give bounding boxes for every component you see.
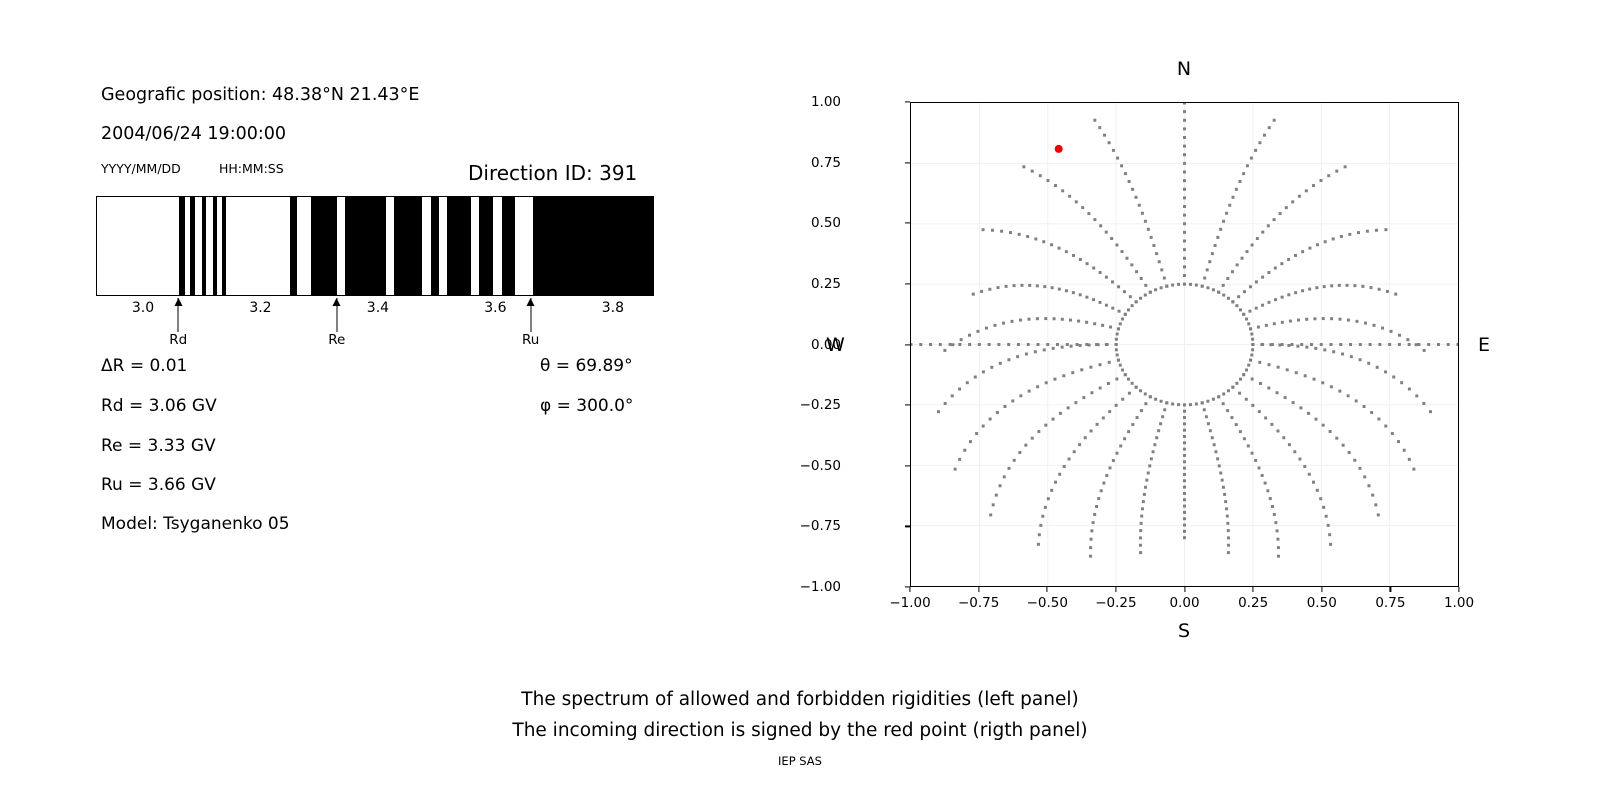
data-point bbox=[1165, 285, 1168, 288]
data-point bbox=[1069, 319, 1072, 322]
data-point bbox=[1183, 119, 1186, 122]
data-point bbox=[1261, 231, 1264, 234]
data-point bbox=[1148, 464, 1151, 467]
data-point bbox=[1019, 394, 1022, 397]
data-point bbox=[1124, 313, 1127, 316]
data-point bbox=[1206, 400, 1209, 403]
data-point bbox=[1131, 423, 1134, 426]
data-point bbox=[1288, 443, 1291, 446]
data-point bbox=[1222, 392, 1225, 395]
data-point bbox=[1227, 529, 1230, 532]
data-point bbox=[1183, 188, 1186, 191]
data-point bbox=[1089, 555, 1092, 558]
data-point bbox=[999, 484, 1002, 487]
date-format-hint: YYYY/MM/DD bbox=[101, 161, 181, 176]
data-point bbox=[1394, 293, 1397, 296]
data-point bbox=[1330, 343, 1333, 346]
data-point bbox=[1251, 404, 1254, 407]
data-point bbox=[1347, 394, 1350, 397]
data-point bbox=[1183, 162, 1186, 165]
data-point bbox=[1329, 543, 1332, 546]
polar-scatter-plot bbox=[910, 102, 1459, 587]
data-point bbox=[1227, 389, 1230, 392]
data-point bbox=[1189, 403, 1192, 406]
data-point bbox=[1140, 515, 1143, 518]
data-point bbox=[1392, 376, 1395, 379]
data-point bbox=[1216, 457, 1219, 460]
scatter-canvas bbox=[911, 103, 1458, 586]
data-point bbox=[1046, 343, 1049, 346]
data-point bbox=[1058, 473, 1061, 476]
data-point bbox=[1212, 398, 1215, 401]
data-point bbox=[1330, 385, 1333, 388]
data-point bbox=[1249, 327, 1252, 330]
data-point bbox=[1264, 482, 1267, 485]
data-point bbox=[1294, 254, 1297, 257]
data-point bbox=[1036, 284, 1039, 287]
data-point bbox=[1264, 416, 1267, 419]
data-point bbox=[1246, 250, 1249, 253]
data-point bbox=[1214, 244, 1217, 247]
data-point bbox=[1092, 267, 1095, 270]
data-point bbox=[1115, 348, 1118, 351]
data-point bbox=[951, 343, 954, 346]
data-point bbox=[1223, 493, 1226, 496]
data-point bbox=[1310, 343, 1313, 346]
spectrum-tick-label: 3.6 bbox=[484, 300, 506, 316]
data-point bbox=[1183, 196, 1186, 199]
data-point bbox=[1203, 408, 1206, 411]
data-point bbox=[1381, 327, 1384, 330]
data-point bbox=[1350, 355, 1353, 358]
data-point bbox=[1016, 355, 1019, 358]
caption-line-1: The spectrum of allowed and forbidden ri… bbox=[0, 684, 1600, 715]
data-point bbox=[1254, 149, 1257, 152]
data-point bbox=[1093, 119, 1096, 122]
data-point bbox=[997, 286, 1000, 289]
data-point bbox=[969, 440, 972, 443]
stat-phi: φ = 300.0° bbox=[540, 396, 633, 416]
data-point bbox=[1377, 513, 1380, 516]
data-point bbox=[1312, 184, 1315, 187]
incoming-direction-point bbox=[1055, 145, 1063, 153]
data-point bbox=[1128, 180, 1131, 183]
data-point bbox=[1417, 343, 1420, 346]
data-point bbox=[1183, 441, 1186, 444]
data-point bbox=[1092, 298, 1095, 301]
data-point bbox=[1183, 435, 1186, 438]
data-point bbox=[1267, 224, 1270, 227]
data-point bbox=[1388, 343, 1391, 346]
data-point bbox=[1101, 324, 1104, 327]
y-axis-tick-label: 0.25 bbox=[811, 276, 841, 292]
data-point bbox=[1183, 536, 1186, 539]
y-axis-tick-label: −0.50 bbox=[800, 458, 841, 474]
data-point bbox=[1211, 252, 1214, 255]
data-point bbox=[1139, 544, 1142, 547]
x-axis-tick-mark bbox=[1184, 587, 1185, 592]
spectrum-panel: Geografic position: 48.38°N 21.43°E 2004… bbox=[0, 0, 760, 620]
data-point bbox=[1072, 291, 1075, 294]
data-point bbox=[1054, 481, 1057, 484]
data-point bbox=[1183, 240, 1186, 243]
data-point bbox=[1303, 465, 1306, 468]
data-point bbox=[1044, 317, 1047, 320]
data-point bbox=[1065, 250, 1068, 253]
data-point bbox=[1322, 317, 1325, 320]
data-point bbox=[1009, 231, 1012, 234]
data-point bbox=[1028, 390, 1031, 393]
data-point bbox=[1150, 236, 1153, 239]
data-point bbox=[1117, 285, 1120, 288]
data-point bbox=[1099, 271, 1102, 274]
forbidden-band bbox=[190, 197, 194, 295]
data-point bbox=[1189, 283, 1192, 286]
data-point bbox=[1013, 284, 1016, 287]
data-point bbox=[1183, 103, 1186, 104]
data-point bbox=[1022, 165, 1025, 168]
data-point bbox=[991, 229, 994, 232]
data-point bbox=[1457, 343, 1458, 346]
data-point bbox=[1221, 479, 1224, 482]
data-point bbox=[1142, 500, 1145, 503]
data-point bbox=[1219, 472, 1222, 475]
data-point bbox=[1145, 479, 1148, 482]
data-point bbox=[1213, 443, 1216, 446]
data-point bbox=[1103, 134, 1106, 137]
data-point bbox=[1251, 338, 1254, 341]
data-point bbox=[919, 343, 922, 346]
data-point bbox=[1226, 277, 1229, 280]
data-point bbox=[1038, 533, 1041, 536]
data-point bbox=[1357, 231, 1360, 234]
data-point bbox=[1323, 348, 1326, 351]
data-point bbox=[966, 381, 969, 384]
data-point bbox=[1281, 296, 1284, 299]
data-point bbox=[1232, 196, 1235, 199]
data-point bbox=[1437, 343, 1440, 346]
data-point bbox=[1051, 286, 1054, 289]
data-point bbox=[1447, 343, 1450, 346]
data-point bbox=[1363, 475, 1366, 478]
data-point bbox=[1003, 405, 1006, 408]
data-point bbox=[951, 394, 954, 397]
geographic-position-label: Geografic position: 48.38°N 21.43°E bbox=[101, 85, 419, 105]
data-point bbox=[1222, 294, 1225, 297]
data-point bbox=[1226, 409, 1229, 412]
data-point bbox=[1063, 465, 1066, 468]
data-point bbox=[1235, 304, 1238, 307]
data-point bbox=[1218, 464, 1221, 467]
data-point bbox=[1183, 403, 1186, 406]
data-point bbox=[1261, 276, 1264, 279]
data-point bbox=[1314, 418, 1317, 421]
data-point bbox=[1105, 343, 1108, 346]
data-point bbox=[1384, 228, 1387, 231]
data-point bbox=[1322, 506, 1325, 509]
forbidden-band bbox=[222, 197, 226, 295]
data-point bbox=[1348, 451, 1351, 454]
data-point bbox=[1025, 353, 1028, 356]
data-point bbox=[1245, 317, 1248, 320]
data-point bbox=[1249, 285, 1252, 288]
forbidden-band bbox=[533, 197, 654, 295]
data-point bbox=[1217, 395, 1220, 398]
data-point bbox=[1277, 555, 1280, 558]
data-point bbox=[1400, 381, 1403, 384]
data-point bbox=[1266, 489, 1269, 492]
data-point bbox=[1115, 378, 1118, 381]
data-point bbox=[1258, 410, 1261, 413]
data-point bbox=[1227, 297, 1230, 300]
arrow-up-icon bbox=[178, 298, 179, 332]
data-point bbox=[1050, 243, 1053, 246]
y-axis-tick-label: 0.75 bbox=[811, 155, 841, 171]
data-point bbox=[1258, 141, 1261, 144]
data-point bbox=[1247, 444, 1250, 447]
data-point bbox=[1183, 422, 1186, 425]
data-point bbox=[1144, 220, 1147, 223]
data-point bbox=[1007, 343, 1010, 346]
data-point bbox=[1408, 343, 1411, 346]
data-point bbox=[1276, 391, 1279, 394]
direction-id-label: Direction ID: 391 bbox=[468, 161, 637, 185]
data-point bbox=[996, 411, 999, 414]
data-point bbox=[1375, 229, 1378, 232]
data-point bbox=[1154, 398, 1157, 401]
spectrum-marker-label: Ru bbox=[522, 332, 539, 348]
data-point bbox=[1017, 343, 1020, 346]
data-point bbox=[997, 343, 1000, 346]
data-point bbox=[1117, 359, 1120, 362]
forbidden-band bbox=[179, 197, 184, 295]
data-point bbox=[1251, 343, 1254, 346]
data-point bbox=[1105, 304, 1108, 307]
data-point bbox=[1222, 220, 1225, 223]
data-point bbox=[1053, 317, 1056, 320]
data-point bbox=[1367, 484, 1370, 487]
data-point bbox=[1079, 344, 1082, 347]
data-point bbox=[1257, 326, 1260, 329]
data-point bbox=[1141, 212, 1144, 215]
data-point bbox=[1183, 205, 1186, 208]
data-point bbox=[1355, 320, 1358, 323]
spectrum-marker-label: Rd bbox=[169, 332, 187, 348]
forbidden-band bbox=[431, 197, 440, 295]
data-point bbox=[1247, 322, 1250, 325]
y-axis-tick-label: −1.00 bbox=[800, 579, 841, 595]
data-point bbox=[1102, 416, 1105, 419]
data-point bbox=[1059, 412, 1062, 415]
data-point bbox=[1130, 263, 1133, 266]
data-point bbox=[1251, 378, 1254, 381]
data-point bbox=[1308, 247, 1311, 250]
data-point bbox=[1267, 363, 1270, 366]
data-point bbox=[1115, 343, 1118, 346]
data-point bbox=[1265, 324, 1268, 327]
data-point bbox=[963, 449, 966, 452]
stat-rd: Rd = 3.06 GV bbox=[101, 396, 217, 416]
data-point bbox=[1301, 289, 1304, 292]
data-point bbox=[1076, 343, 1079, 346]
data-point bbox=[1115, 243, 1118, 246]
data-point bbox=[1158, 260, 1161, 263]
data-point bbox=[1415, 343, 1418, 346]
data-point bbox=[1239, 378, 1242, 381]
data-point bbox=[1348, 233, 1351, 236]
data-point bbox=[1081, 206, 1084, 209]
data-point bbox=[1236, 263, 1239, 266]
data-point bbox=[1085, 296, 1088, 299]
data-point bbox=[1231, 300, 1234, 303]
data-point bbox=[1226, 515, 1229, 518]
data-point bbox=[1304, 374, 1307, 377]
data-point bbox=[1144, 284, 1147, 287]
x-axis-tick-mark bbox=[1253, 587, 1254, 592]
data-point bbox=[1364, 322, 1367, 325]
data-point bbox=[1276, 538, 1279, 541]
data-point bbox=[1273, 513, 1276, 516]
data-point bbox=[1366, 230, 1369, 233]
data-point bbox=[1036, 385, 1039, 388]
data-point bbox=[1047, 497, 1050, 500]
data-point bbox=[1367, 362, 1370, 365]
data-point bbox=[1150, 457, 1153, 460]
data-point bbox=[1305, 318, 1308, 321]
data-point bbox=[1149, 291, 1152, 294]
data-point bbox=[1279, 212, 1282, 215]
data-point bbox=[1203, 277, 1206, 280]
data-point bbox=[1183, 171, 1186, 174]
data-point bbox=[1361, 285, 1364, 288]
x-axis-tick-label: −0.25 bbox=[1095, 595, 1136, 611]
caption-line-2: The incoming direction is signed by the … bbox=[0, 715, 1600, 746]
data-point bbox=[1041, 515, 1044, 518]
data-point bbox=[1384, 370, 1387, 373]
data-point bbox=[1320, 343, 1323, 346]
data-point bbox=[1054, 184, 1057, 187]
data-point bbox=[1165, 401, 1168, 404]
data-point bbox=[1222, 486, 1225, 489]
data-point bbox=[1277, 546, 1280, 549]
data-point bbox=[978, 343, 981, 346]
data-point bbox=[1024, 444, 1027, 447]
x-axis-tick-mark bbox=[1321, 587, 1322, 592]
data-point bbox=[1072, 254, 1075, 257]
data-point bbox=[972, 293, 975, 296]
forbidden-band bbox=[394, 197, 422, 295]
y-axis-tick-label: −0.75 bbox=[800, 518, 841, 534]
data-point bbox=[1319, 497, 1322, 500]
data-point bbox=[1183, 448, 1186, 451]
data-point bbox=[1250, 353, 1253, 356]
data-point bbox=[1268, 126, 1271, 129]
data-point bbox=[1119, 444, 1122, 447]
data-point bbox=[1089, 546, 1092, 549]
data-point bbox=[1319, 179, 1322, 182]
data-point bbox=[1250, 157, 1253, 160]
data-point bbox=[1298, 458, 1301, 461]
data-point bbox=[1116, 353, 1119, 356]
x-axis-tick-label: 0.50 bbox=[1307, 595, 1337, 611]
data-point bbox=[1075, 200, 1078, 203]
data-point bbox=[1027, 343, 1030, 346]
data-point bbox=[1093, 218, 1096, 221]
data-point bbox=[992, 503, 995, 506]
data-point bbox=[1034, 237, 1037, 240]
data-point bbox=[1027, 318, 1030, 321]
data-point bbox=[958, 343, 961, 346]
data-point bbox=[1160, 268, 1163, 271]
data-point bbox=[1177, 283, 1180, 286]
data-point bbox=[1044, 506, 1047, 509]
data-point bbox=[1068, 458, 1071, 461]
data-point bbox=[1183, 498, 1186, 501]
data-point bbox=[1349, 343, 1352, 346]
stat-delta-r: ΔR = 0.01 bbox=[101, 356, 187, 376]
data-point bbox=[1127, 308, 1130, 311]
data-point bbox=[1139, 297, 1142, 300]
data-point bbox=[1131, 188, 1134, 191]
data-point bbox=[1293, 450, 1296, 453]
spectrum-tick-label: 3.0 bbox=[132, 300, 154, 316]
data-point bbox=[1294, 291, 1297, 294]
data-point bbox=[1052, 347, 1055, 350]
data-point bbox=[1139, 551, 1142, 554]
data-point bbox=[1254, 459, 1257, 462]
data-point bbox=[1299, 406, 1302, 409]
data-point bbox=[1128, 392, 1131, 395]
y-axis-tick-mark bbox=[905, 405, 910, 406]
data-point bbox=[1011, 320, 1014, 323]
data-point bbox=[1422, 402, 1425, 405]
data-point bbox=[1058, 247, 1061, 250]
data-point bbox=[1135, 300, 1138, 303]
data-point bbox=[1308, 288, 1311, 291]
data-point bbox=[1124, 373, 1127, 376]
data-point bbox=[1247, 364, 1250, 367]
data-point bbox=[1384, 425, 1387, 428]
data-point bbox=[1281, 321, 1284, 324]
data-point bbox=[1127, 378, 1130, 381]
y-axis-tick-label: 1.00 bbox=[811, 94, 841, 110]
data-point bbox=[1037, 543, 1040, 546]
data-point bbox=[1140, 409, 1143, 412]
data-point bbox=[1149, 395, 1152, 398]
y-axis-tick-label: 0.50 bbox=[811, 215, 841, 231]
data-point bbox=[1282, 436, 1285, 439]
x-axis-tick-label: 1.00 bbox=[1444, 595, 1474, 611]
data-point bbox=[999, 362, 1002, 365]
data-point bbox=[989, 418, 992, 421]
spectrum-tick-label: 3.4 bbox=[367, 300, 389, 316]
data-point bbox=[1097, 497, 1100, 500]
data-point bbox=[1177, 403, 1180, 406]
data-point bbox=[1136, 416, 1139, 419]
data-point bbox=[1011, 399, 1014, 402]
x-axis-tick-mark bbox=[909, 587, 910, 592]
data-point bbox=[1323, 285, 1326, 288]
stat-re: Re = 3.33 GV bbox=[101, 436, 216, 456]
data-point bbox=[958, 458, 961, 461]
data-point bbox=[1077, 320, 1080, 323]
data-point bbox=[1290, 343, 1293, 346]
data-point bbox=[1291, 200, 1294, 203]
data-point bbox=[1115, 452, 1118, 455]
data-point bbox=[1089, 366, 1092, 369]
data-point bbox=[1346, 284, 1349, 287]
arrow-up-icon bbox=[336, 298, 337, 332]
